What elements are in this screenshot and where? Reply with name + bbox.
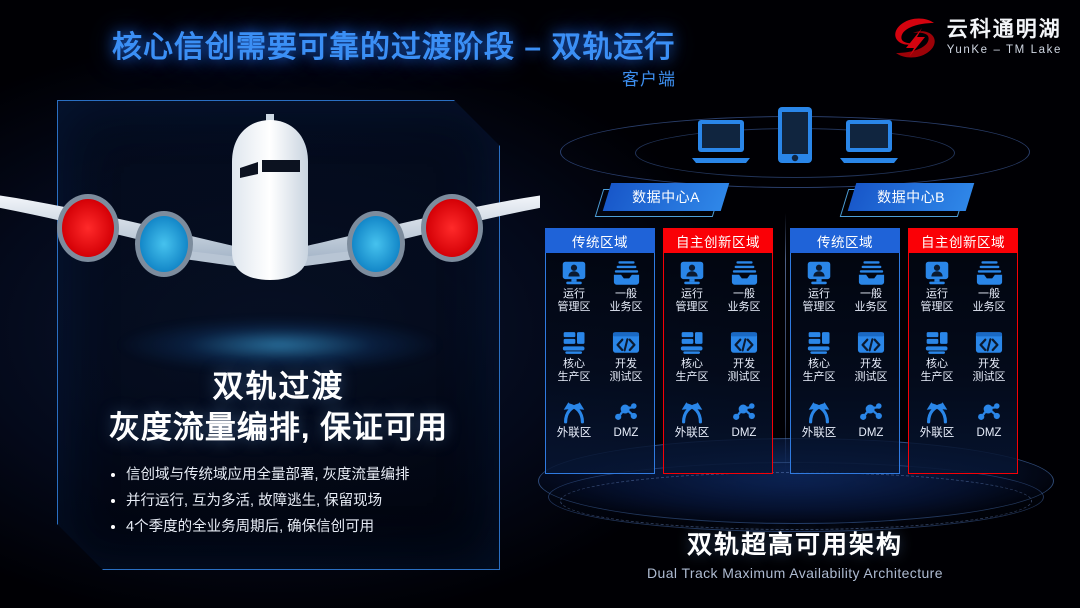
list-item: 信创域与传统域应用全量部署, 灰度流量编排 (110, 462, 490, 488)
zone-item-label: 开发 测试区 (728, 358, 761, 384)
user-monitor-icon (561, 259, 587, 286)
client-tier-label: 客户端 (0, 65, 1080, 90)
zone-item-label: 开发 测试区 (610, 358, 643, 384)
zone-item[interactable]: 一般 业务区 (718, 259, 770, 329)
zone-item-label: 运行 管理区 (803, 288, 836, 314)
zone-item-label: 运行 管理区 (558, 288, 591, 314)
server-stack-icon (807, 329, 832, 356)
laptop-icon (838, 118, 900, 164)
network-nodes-icon (731, 399, 757, 425)
exchange-arrows-icon (560, 399, 588, 425)
headline-line-1: 双轨过渡 (57, 368, 500, 406)
zone-item-label: 一般 业务区 (728, 288, 761, 314)
server-stack-icon (925, 329, 950, 356)
user-monitor-icon (806, 259, 832, 286)
code-window-icon (975, 329, 1003, 356)
airplane-glow (120, 318, 440, 372)
code-window-icon (730, 329, 758, 356)
headline-block: 双轨过渡 灰度流量编排, 保证可用 (57, 368, 500, 449)
zone-item[interactable]: 外联区 (548, 399, 600, 469)
zone-item[interactable]: 一般 业务区 (600, 259, 652, 329)
brand-name-cn: 云科通明湖 (947, 19, 1062, 40)
list-item: 并行运行, 互为多活, 故障逃生, 保留现场 (110, 488, 490, 514)
zone-item[interactable]: 开发 测试区 (845, 329, 897, 399)
code-window-icon (612, 329, 640, 356)
platform-disc-inner (560, 472, 1032, 530)
brand-logo-text: 云科通明湖 YunKe – TM Lake (947, 19, 1062, 57)
exchange-arrows-icon (678, 399, 706, 425)
zone-item-label: DMZ (977, 427, 1002, 440)
zone-item[interactable]: 核心 生产区 (666, 329, 718, 399)
user-monitor-icon (924, 259, 950, 286)
datacenter-a-tag-label: 数据中心A (607, 183, 725, 211)
headline-line-2: 灰度流量编排, 保证可用 (57, 408, 500, 448)
zone-header: 传统区域 (545, 228, 655, 253)
zone-item[interactable]: 运行 管理区 (548, 259, 600, 329)
zone-item-label: DMZ (732, 427, 757, 440)
zone-header: 自主创新区域 (663, 228, 773, 253)
exchange-arrows-icon (923, 399, 951, 425)
zone-item-label: 运行 管理区 (921, 288, 954, 314)
zone-item[interactable]: 外联区 (666, 399, 718, 469)
caption-cn: 双轨超高可用架构 (560, 525, 1030, 561)
brand-logo: 云科通明湖 YunKe – TM Lake (892, 16, 1062, 60)
datacenter-b-tag[interactable]: 数据中心B (852, 183, 970, 211)
datacenter-a-tag[interactable]: 数据中心A (607, 183, 725, 211)
zone-item[interactable]: 开发 测试区 (600, 329, 652, 399)
zone-item-label: DMZ (859, 427, 884, 440)
zone-item-label: 核心 生产区 (803, 358, 836, 384)
zone-item[interactable]: 开发 测试区 (963, 329, 1015, 399)
zone-item[interactable]: 核心 生产区 (548, 329, 600, 399)
network-nodes-icon (613, 399, 639, 425)
zone-header: 传统区域 (790, 228, 900, 253)
zone-item-label: 核心 生产区 (558, 358, 591, 384)
datacenter-b-tag-label: 数据中心B (852, 183, 970, 211)
zone-item[interactable]: 外联区 (911, 399, 963, 469)
zone-item[interactable]: 核心 生产区 (911, 329, 963, 399)
slide-root: 核心信创需要可靠的过渡阶段 – 双轨运行 云科通明湖 YunKe – TM La… (0, 0, 1080, 608)
diagram-caption: 双轨超高可用架构 Dual Track Maximum Availability… (560, 525, 1030, 581)
network-nodes-icon (858, 399, 884, 425)
zone-column-innovation-a[interactable]: 自主创新区域运行 管理区一般 业务区核心 生产区开发 测试区外联区DMZ (663, 228, 773, 474)
server-stack-icon (680, 329, 705, 356)
zone-column-traditional-b[interactable]: 传统区域运行 管理区一般 业务区核心 生产区开发 测试区外联区DMZ (790, 228, 900, 474)
zone-item-label: 运行 管理区 (676, 288, 709, 314)
zone-body: 运行 管理区一般 业务区核心 生产区开发 测试区外联区DMZ (908, 253, 1018, 474)
zone-item-label: 外联区 (920, 427, 955, 440)
exchange-arrows-icon (805, 399, 833, 425)
zone-item-label: 一般 业务区 (610, 288, 643, 314)
zone-item[interactable]: 运行 管理区 (911, 259, 963, 329)
zone-item[interactable]: 外联区 (793, 399, 845, 469)
zone-item-label: 核心 生产区 (676, 358, 709, 384)
zone-item-label: 外联区 (802, 427, 837, 440)
zone-body: 运行 管理区一般 业务区核心 生产区开发 测试区外联区DMZ (790, 253, 900, 474)
zone-item[interactable]: 核心 生产区 (793, 329, 845, 399)
zone-column-innovation-b[interactable]: 自主创新区域运行 管理区一般 业务区核心 生产区开发 测试区外联区DMZ (908, 228, 1018, 474)
zone-item[interactable]: 开发 测试区 (718, 329, 770, 399)
brand-name-en: YunKe – TM Lake (947, 45, 1062, 57)
code-window-icon (857, 329, 885, 356)
zone-body: 运行 管理区一般 业务区核心 生产区开发 测试区外联区DMZ (545, 253, 655, 474)
laptop-icon (690, 118, 752, 164)
zone-item[interactable]: DMZ (718, 399, 770, 469)
inbox-tray-icon (731, 259, 758, 286)
inbox-tray-icon (858, 259, 885, 286)
zone-item[interactable]: 一般 业务区 (845, 259, 897, 329)
zone-column-traditional-a[interactable]: 传统区域运行 管理区一般 业务区核心 生产区开发 测试区外联区DMZ (545, 228, 655, 474)
zone-columns: 传统区域运行 管理区一般 业务区核心 生产区开发 测试区外联区DMZ自主创新区域… (545, 228, 1045, 474)
zone-item[interactable]: DMZ (963, 399, 1015, 469)
caption-en: Dual Track Maximum Availability Architec… (560, 565, 1030, 581)
client-tier-label-text: 客户端 (622, 70, 676, 89)
zone-item-label: 开发 测试区 (855, 358, 888, 384)
page-title: 核心信创需要可靠的过渡阶段 – 双轨运行 (112, 22, 675, 66)
zone-header: 自主创新区域 (908, 228, 1018, 253)
zone-item-label: 核心 生产区 (921, 358, 954, 384)
swoosh-logo-icon (892, 16, 938, 60)
zone-item[interactable]: DMZ (600, 399, 652, 469)
inbox-tray-icon (976, 259, 1003, 286)
zone-item[interactable]: 运行 管理区 (666, 259, 718, 329)
zone-item[interactable]: 一般 业务区 (963, 259, 1015, 329)
zone-item-label: 开发 测试区 (973, 358, 1006, 384)
list-item: 4个季度的全业务周期后, 确保信创可用 (110, 514, 490, 540)
zone-item[interactable]: DMZ (845, 399, 897, 469)
server-stack-icon (562, 329, 587, 356)
zone-item-label: 一般 业务区 (973, 288, 1006, 314)
tablet-icon (776, 106, 814, 164)
zone-item[interactable]: 运行 管理区 (793, 259, 845, 329)
inbox-tray-icon (613, 259, 640, 286)
zone-body: 运行 管理区一般 业务区核心 生产区开发 测试区外联区DMZ (663, 253, 773, 474)
zone-item-label: 外联区 (675, 427, 710, 440)
client-devices (690, 102, 900, 164)
zone-item-label: DMZ (614, 427, 639, 440)
user-monitor-icon (679, 259, 705, 286)
bullet-list: 信创域与传统域应用全量部署, 灰度流量编排 并行运行, 互为多活, 故障逃生, … (110, 462, 490, 540)
zone-item-label: 一般 业务区 (855, 288, 888, 314)
network-nodes-icon (976, 399, 1002, 425)
zone-item-label: 外联区 (557, 427, 592, 440)
